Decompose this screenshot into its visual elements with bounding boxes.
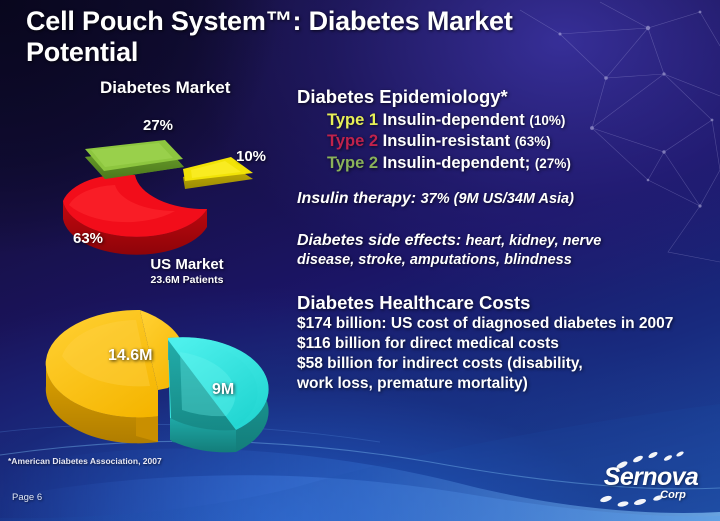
cost-line: $174 billion: US cost of diagnosed diabe… [297,314,715,334]
slide-canvas: Cell Pouch System™: Diabetes Market Pote… [0,0,720,521]
cost-line: work loss, premature mortality) [297,374,715,394]
insulin-therapy-value: 37% (9M US/34M Asia) [421,191,574,207]
page-number: Page 6 [12,492,42,503]
chart-heading-diabetes-market: Diabetes Market [100,78,230,98]
insulin-therapy-label: Insulin therapy: [297,190,416,207]
healthcare-costs-block: Diabetes Healthcare Costs $174 billion: … [297,292,715,394]
logo-name: Sernova [590,463,712,492]
epi-type-label: Type 1 [327,111,378,129]
pie-label-14-6m: 14.6M [108,347,152,365]
epidemiology-list: Type 1 Insulin-dependent (10%) Type 2 In… [297,110,715,174]
side-effects-label: Diabetes side effects: [297,232,461,249]
us-market-subtitle: 23.6M Patients [107,274,267,286]
pie-label-9m: 9M [212,381,234,399]
epidemiology-item-type1: Type 1 Insulin-dependent (10%) [327,110,715,131]
costs-heading: Diabetes Healthcare Costs [297,292,715,314]
epi-pct: (63%) [515,134,551,149]
epi-type-label: Type 2 [327,132,378,150]
epi-desc: Insulin-resistant [383,132,510,150]
content-column: Diabetes Epidemiology* Type 1 Insulin-de… [297,86,715,394]
pie-slice-gold-14-6m [46,310,185,443]
epidemiology-heading: Diabetes Epidemiology* [297,86,715,108]
us-market-pie-chart [40,290,320,465]
cost-line: $58 billion for indirect costs (disabili… [297,354,715,374]
pie-label-63-percent: 63% [73,230,103,247]
epidemiology-item-type2-dependent: Type 2 Insulin-dependent; (27%) [327,153,715,174]
epi-desc: Insulin-dependent; [383,154,531,172]
epidemiology-item-type2-resistant: Type 2 Insulin-resistant (63%) [327,131,715,152]
side-effects-statement: Diabetes side effects: heart, kidney, ne… [297,231,715,270]
side-effects-value-continued: disease, stroke, amputations, blindness [297,251,715,270]
pie-label-10-percent: 10% [236,148,266,165]
logo-subtitle: Corp [590,489,712,501]
epi-desc: Insulin-dependent [383,111,525,129]
source-footnote: *American Diabetes Association, 2007 [8,456,162,466]
us-market-caption: US Market 23.6M Patients [107,256,267,286]
pie-label-27-percent: 27% [143,117,173,134]
epi-type-label: Type 2 [327,154,378,172]
insulin-therapy-statement: Insulin therapy: 37% (9M US/34M Asia) [297,189,715,209]
cost-line: $116 billion for direct medical costs [297,334,715,354]
side-effects-value: heart, kidney, nerve [466,233,602,249]
epi-pct: (27%) [535,156,571,171]
epi-pct: (10%) [529,113,565,128]
sernova-logo: Sernova Corp [590,449,712,511]
page-title: Cell Pouch System™: Diabetes Market Pote… [26,6,586,68]
us-market-title: US Market [107,256,267,273]
